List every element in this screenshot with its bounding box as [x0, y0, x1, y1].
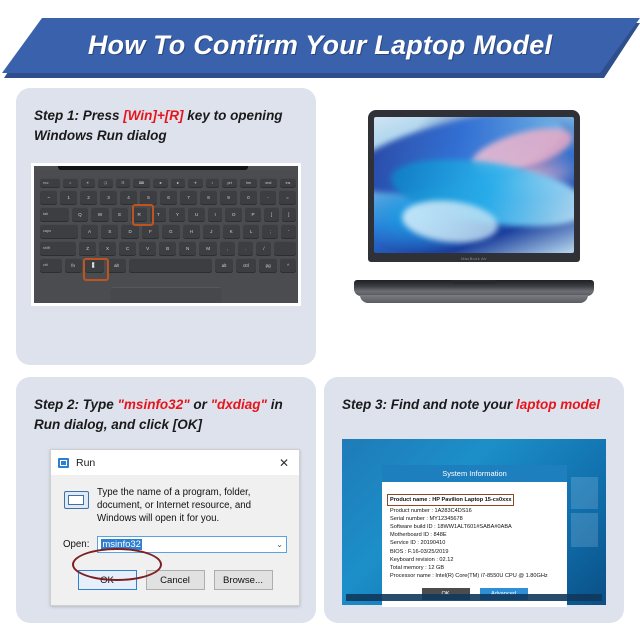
key-g: G	[162, 224, 180, 238]
keyboard-rows: esc ☼ ☀ ❏ ☷ ⌨ ◄ ► ✈ ♪ prt hm end ins	[40, 178, 296, 275]
key-9: 9	[220, 190, 237, 204]
step1-prefix: Step 1: Press	[34, 108, 123, 123]
key-u: U	[188, 207, 204, 221]
key-c: C	[119, 241, 136, 255]
key-t: T	[150, 207, 166, 221]
key-v: V	[139, 241, 156, 255]
key-f2: ☀	[81, 178, 96, 187]
key-8: 8	[200, 190, 217, 204]
key-p: P	[245, 207, 261, 221]
key-space	[129, 258, 212, 272]
step3-prefix: Step 3: Find and note your	[342, 397, 516, 412]
sysinfo-row: Product number : 1A283C4DS16	[390, 507, 559, 515]
key-minus: -	[260, 190, 276, 204]
key-windows	[85, 258, 104, 272]
sysinfo-row: Motherboard ID : 848E	[390, 531, 559, 539]
key-quote: '	[281, 224, 296, 238]
step2-highlight-msinfo32: "msinfo32"	[118, 397, 190, 412]
key-j: J	[203, 224, 219, 238]
step2-highlight-dxdiag: "dxdiag"	[211, 397, 267, 412]
key-i: I	[208, 207, 222, 221]
step1-highlight: [Win]+[R]	[123, 108, 183, 123]
banner-shape: How To Confirm Your Laptop Model	[0, 18, 640, 73]
key-f4: ☷	[116, 178, 131, 187]
key-capslock: caps	[40, 224, 78, 238]
key-a: A	[81, 224, 98, 238]
run-open-row: Open: msinfo32 ⌄	[51, 525, 299, 553]
key-home: hm	[240, 178, 256, 187]
sysinfo-row: Service ID : 20190410	[390, 539, 559, 547]
sysinfo-row: Serial number : MY12345678	[390, 515, 559, 523]
run-window-icon	[58, 458, 69, 468]
key-o: O	[225, 207, 242, 221]
windows-desktop-screenshot: System Information Product name : HP Pav…	[342, 439, 606, 605]
key-h: H	[183, 224, 200, 238]
key-b: B	[159, 241, 176, 255]
windows-taskbar	[346, 594, 602, 601]
key-ctrl-right: ctrl	[236, 258, 256, 272]
key-tab: tab	[40, 207, 69, 221]
close-icon[interactable]: ✕	[273, 453, 295, 473]
key-comma: ,	[220, 241, 235, 255]
key-q: Q	[72, 207, 89, 221]
key-2: 2	[80, 190, 97, 204]
run-dialog-titlebar: Run ✕	[51, 450, 299, 475]
keyboard-body: esc ☼ ☀ ❏ ☷ ⌨ ◄ ► ✈ ♪ prt hm end ins	[34, 166, 298, 303]
key-z: Z	[79, 241, 96, 255]
run-dialog: Run ✕ Type the name of a program, folder…	[50, 449, 300, 606]
key-prtsc: prt	[222, 178, 238, 187]
key-4: 4	[120, 190, 137, 204]
laptop-photo-panel: MacBook Air	[324, 88, 624, 365]
sysinfo-row: Processor name : Intel(R) Core(TM) i7-85…	[390, 572, 559, 580]
sysinfo-row: Software build ID : 18WW1ALT601#SABA#0AB…	[390, 523, 559, 531]
key-f6: ◄	[153, 178, 168, 187]
key-tilde: ~	[40, 190, 57, 204]
key-6: 6	[160, 190, 177, 204]
key-l: L	[243, 224, 260, 238]
key-bracket-left: [	[264, 207, 278, 221]
system-information-rows: Product name : HP Pavilion Laptop 15-cs0…	[382, 482, 567, 584]
run-dialog-buttons: OK Cancel Browse...	[51, 553, 299, 590]
key-alt-left: alt	[107, 258, 125, 272]
key-slash: /	[256, 241, 271, 255]
laptop-lid: MacBook Air	[368, 110, 580, 262]
sysinfo-row-product-name: Product name : HP Pavilion Laptop 15-cs0…	[387, 494, 514, 506]
sysinfo-row: BIOS : F.16-03/25/2019	[390, 548, 559, 556]
key-f3: ❏	[98, 178, 113, 187]
chevron-down-icon[interactable]: ⌄	[276, 540, 283, 549]
key-f7: ►	[171, 178, 186, 187]
run-browse-button[interactable]: Browse...	[214, 570, 273, 590]
key-f8: ✈	[188, 178, 202, 187]
laptop-notch	[451, 280, 497, 284]
key-pgup: pg	[259, 258, 278, 272]
run-app-icon	[63, 488, 88, 510]
key-y: Y	[169, 207, 185, 221]
key-0: 0	[240, 190, 257, 204]
key-shift-left: shift	[40, 241, 76, 255]
key-n: N	[179, 241, 196, 255]
step2-panel: Step 2: Type "msinfo32" or "dxdiag" in R…	[16, 377, 316, 623]
page-title: How To Confirm Your Laptop Model	[88, 30, 552, 61]
step2-prefix: Step 2: Type	[34, 397, 118, 412]
keyboard-photo: esc ☼ ☀ ❏ ☷ ⌨ ◄ ► ✈ ♪ prt hm end ins	[31, 163, 301, 306]
key-f5: ⌨	[133, 178, 150, 187]
ok-button-annotation-circle	[72, 548, 162, 581]
macbook-illustration: MacBook Air	[354, 110, 594, 318]
laptop-foot	[360, 295, 588, 303]
key-bracket-right: ]	[282, 207, 296, 221]
keyboard-row-a: caps A S D F G H J K L ; '	[40, 224, 296, 238]
laptop-base	[354, 280, 594, 296]
key-w: W	[91, 207, 108, 221]
run-dialog-description: Type the name of a program, folder, docu…	[97, 486, 287, 525]
run-open-label: Open:	[63, 539, 89, 550]
key-s: S	[101, 224, 118, 238]
system-information-title: System Information	[382, 465, 567, 482]
key-alt-right: alt	[215, 258, 233, 272]
key-end: end	[260, 178, 277, 187]
key-d: D	[121, 224, 138, 238]
step3-panel: Step 3: Find and note your laptop model …	[324, 377, 624, 623]
keyboard-row-function: esc ☼ ☀ ❏ ☷ ⌨ ◄ ► ✈ ♪ prt hm end ins	[40, 178, 296, 187]
sysinfo-row: Keyboard revision : 02.12	[390, 556, 559, 564]
header-banner: How To Confirm Your Laptop Model	[0, 18, 640, 80]
system-information-window: System Information Product name : HP Pav…	[382, 465, 567, 607]
page-root: How To Confirm Your Laptop Model Step 1:…	[0, 0, 640, 640]
sysinfo-row: Total memory : 12 GB	[390, 564, 559, 572]
keyboard-row-numbers: ~ 1 2 3 4 5 6 7 8 9 0 - =	[40, 190, 296, 204]
step1-instruction: Step 1: Press [Win]+[R] key to opening W…	[34, 106, 302, 146]
step2-instruction: Step 2: Type "msinfo32" or "dxdiag" in R…	[34, 395, 302, 435]
key-esc: esc	[40, 178, 60, 187]
laptop-brand-text: MacBook Air	[368, 256, 580, 261]
step2-middle: or	[190, 397, 211, 412]
keyboard-row-modifiers: ctrl fn alt alt ctrl pg ^	[40, 258, 296, 272]
keyboard-trackpad	[111, 287, 222, 303]
key-f1: ☼	[63, 178, 78, 187]
key-7: 7	[180, 190, 197, 204]
key-m: M	[199, 241, 217, 255]
key-insert: ins	[280, 178, 296, 187]
key-arrows: ^	[280, 258, 296, 272]
key-f9: ♪	[206, 178, 219, 187]
key-5: 5	[140, 190, 157, 204]
step1-panel: Step 1: Press [Win]+[R] key to opening W…	[16, 88, 316, 365]
windows-logo-icon	[92, 262, 98, 268]
key-shift-right	[274, 241, 296, 255]
key-e: E	[112, 207, 128, 221]
key-semicolon: ;	[262, 224, 277, 238]
key-equals: =	[279, 190, 296, 204]
key-f: F	[142, 224, 159, 238]
key-3: 3	[100, 190, 117, 204]
laptop-screen	[374, 117, 574, 253]
key-r: R	[131, 207, 147, 221]
key-fn: fn	[65, 258, 82, 272]
key-period: .	[238, 241, 253, 255]
step3-highlight: laptop model	[516, 397, 600, 412]
run-dialog-title: Run	[76, 457, 95, 469]
run-dialog-body: Type the name of a program, folder, docu…	[51, 475, 299, 525]
key-x: X	[99, 241, 116, 255]
key-1: 1	[60, 190, 77, 204]
key-ctrl-left: ctrl	[40, 258, 62, 272]
step3-instruction: Step 3: Find and note your laptop model	[342, 395, 610, 415]
key-k: K	[223, 224, 240, 238]
keyboard-row-q: tab Q W E R T Y U I O P [ ]	[40, 207, 296, 221]
keyboard-row-z: shift Z X C V B N M , . /	[40, 241, 296, 255]
